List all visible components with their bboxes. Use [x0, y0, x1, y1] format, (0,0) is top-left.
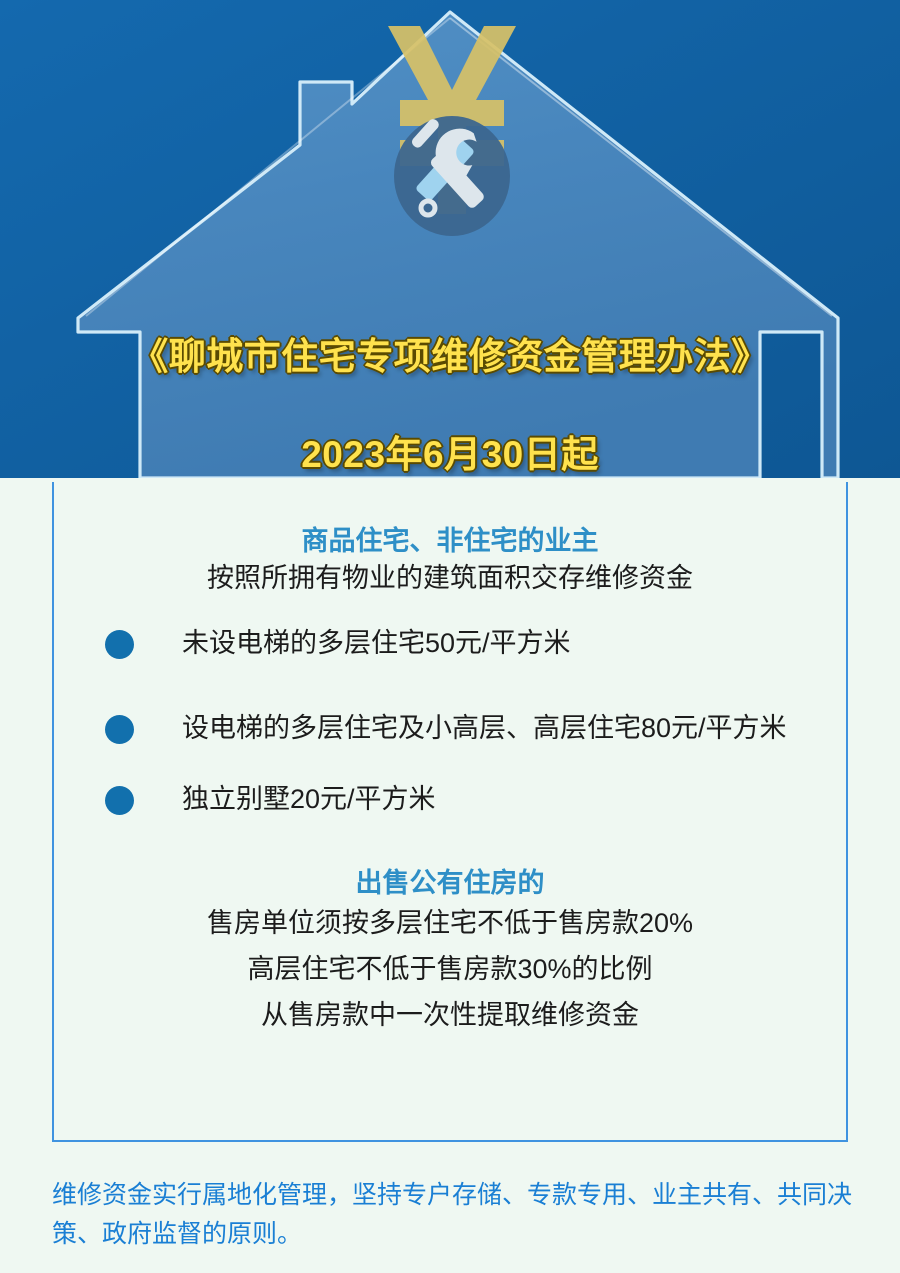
footer-note: 维修资金实行属地化管理，坚持专户存储、专款专用、业主共有、共同决策、政府监督的原…	[52, 1176, 862, 1254]
title-line-2: 2023年6月30日起	[0, 430, 900, 478]
section-owners: 商品住宅、非住宅的业主 按照所拥有物业的建筑面积交存维修资金 未设电梯的多层住宅…	[54, 524, 846, 820]
bullet-dot-icon	[105, 786, 134, 815]
infographic-poster: 《聊城市住宅专项维修资金管理办法》 2023年6月30日起 正式施行 商品住宅、…	[0, 0, 900, 1273]
list-item: 独立别墅20元/平方米	[54, 779, 846, 820]
section-owners-subheading: 按照所拥有物业的建筑面积交存维修资金	[54, 558, 846, 598]
hero-header: 《聊城市住宅专项维修资金管理办法》 2023年6月30日起 正式施行	[0, 0, 900, 478]
title-line-1: 《聊城市住宅专项维修资金管理办法》	[0, 332, 900, 381]
section-public-housing-heading: 出售公有住房的	[54, 866, 846, 900]
list-item: 未设电梯的多层住宅50元/平方米	[54, 623, 846, 664]
bullet-text: 独立别墅20元/平方米	[182, 779, 806, 820]
public-housing-line-2: 高层住宅不低于售房款30%的比例	[54, 946, 846, 992]
public-housing-line-3: 从售房款中一次性提取维修资金	[54, 992, 846, 1038]
bullet-dot-icon	[105, 715, 134, 744]
content-panel: 商品住宅、非住宅的业主 按照所拥有物业的建筑面积交存维修资金 未设电梯的多层住宅…	[52, 482, 848, 1142]
yen-with-tools-icon	[352, 8, 552, 238]
list-item: 设电梯的多层住宅及小高层、高层住宅80元/平方米	[54, 708, 846, 749]
bullet-dot-icon	[105, 630, 134, 659]
page-title: 《聊城市住宅专项维修资金管理办法》 2023年6月30日起 正式施行	[0, 283, 900, 478]
owners-bullet-list: 未设电梯的多层住宅50元/平方米 设电梯的多层住宅及小高层、高层住宅80元/平方…	[54, 623, 846, 820]
bullet-text: 未设电梯的多层住宅50元/平方米	[182, 623, 806, 664]
bullet-text: 设电梯的多层住宅及小高层、高层住宅80元/平方米	[182, 708, 806, 749]
section-owners-heading: 商品住宅、非住宅的业主	[54, 524, 846, 558]
section-public-housing: 出售公有住房的 售房单位须按多层住宅不低于售房款20% 高层住宅不低于售房款30…	[54, 866, 846, 1038]
content-area: 商品住宅、非住宅的业主 按照所拥有物业的建筑面积交存维修资金 未设电梯的多层住宅…	[0, 478, 900, 1273]
public-housing-line-1: 售房单位须按多层住宅不低于售房款20%	[54, 900, 846, 946]
